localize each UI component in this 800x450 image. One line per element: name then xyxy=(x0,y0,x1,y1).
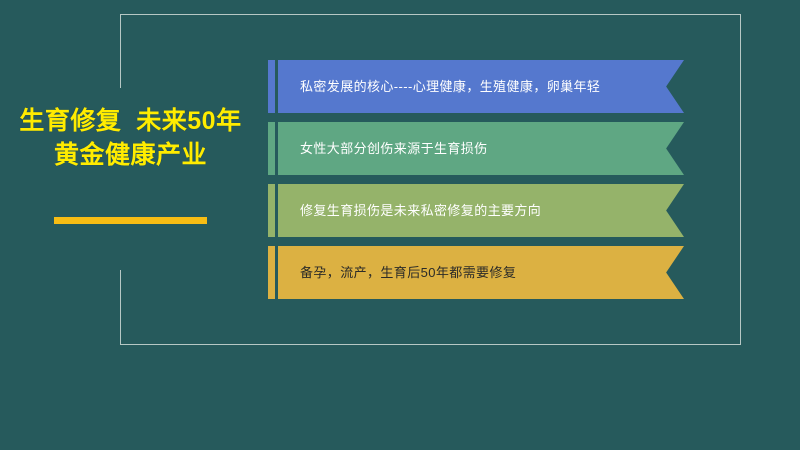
banner-label: 女性大部分创伤来源于生育损伤 xyxy=(278,140,488,158)
frame-line-bottom xyxy=(120,344,741,345)
title-underline-rule xyxy=(54,217,207,224)
frame-line-right xyxy=(740,14,741,344)
list-item[interactable]: 私密发展的核心----心理健康，生殖健康，卵巢年轻 xyxy=(268,60,684,113)
banner-body[interactable]: 备孕，流产，生育后50年都需要修复 xyxy=(278,246,684,299)
frame-line-top xyxy=(120,14,741,15)
page-title: 生育修复 未来50年黄金健康产业 xyxy=(18,104,243,172)
frame-line-left-lower xyxy=(120,270,121,345)
list-item[interactable]: 备孕，流产，生育后50年都需要修复 xyxy=(268,246,684,299)
banner-list: 私密发展的核心----心理健康，生殖健康，卵巢年轻 女性大部分创伤来源于生育损伤… xyxy=(268,60,684,308)
banner-label: 备孕，流产，生育后50年都需要修复 xyxy=(278,264,516,282)
banner-accent-bar xyxy=(268,122,275,175)
banner-label: 修复生育损伤是未来私密修复的主要方向 xyxy=(278,202,541,220)
frame-line-left-upper xyxy=(120,14,121,88)
title-block: 生育修复 未来50年黄金健康产业 xyxy=(18,104,243,172)
list-item[interactable]: 女性大部分创伤来源于生育损伤 xyxy=(268,122,684,175)
banner-accent-bar xyxy=(268,246,275,299)
banner-accent-bar xyxy=(268,184,275,237)
banner-accent-bar xyxy=(268,60,275,113)
banner-body[interactable]: 女性大部分创伤来源于生育损伤 xyxy=(278,122,684,175)
slide-canvas: 生育修复 未来50年黄金健康产业 私密发展的核心----心理健康，生殖健康，卵巢… xyxy=(0,0,800,450)
banner-label: 私密发展的核心----心理健康，生殖健康，卵巢年轻 xyxy=(278,78,600,96)
banner-body[interactable]: 私密发展的核心----心理健康，生殖健康，卵巢年轻 xyxy=(278,60,684,113)
banner-body[interactable]: 修复生育损伤是未来私密修复的主要方向 xyxy=(278,184,684,237)
list-item[interactable]: 修复生育损伤是未来私密修复的主要方向 xyxy=(268,184,684,237)
